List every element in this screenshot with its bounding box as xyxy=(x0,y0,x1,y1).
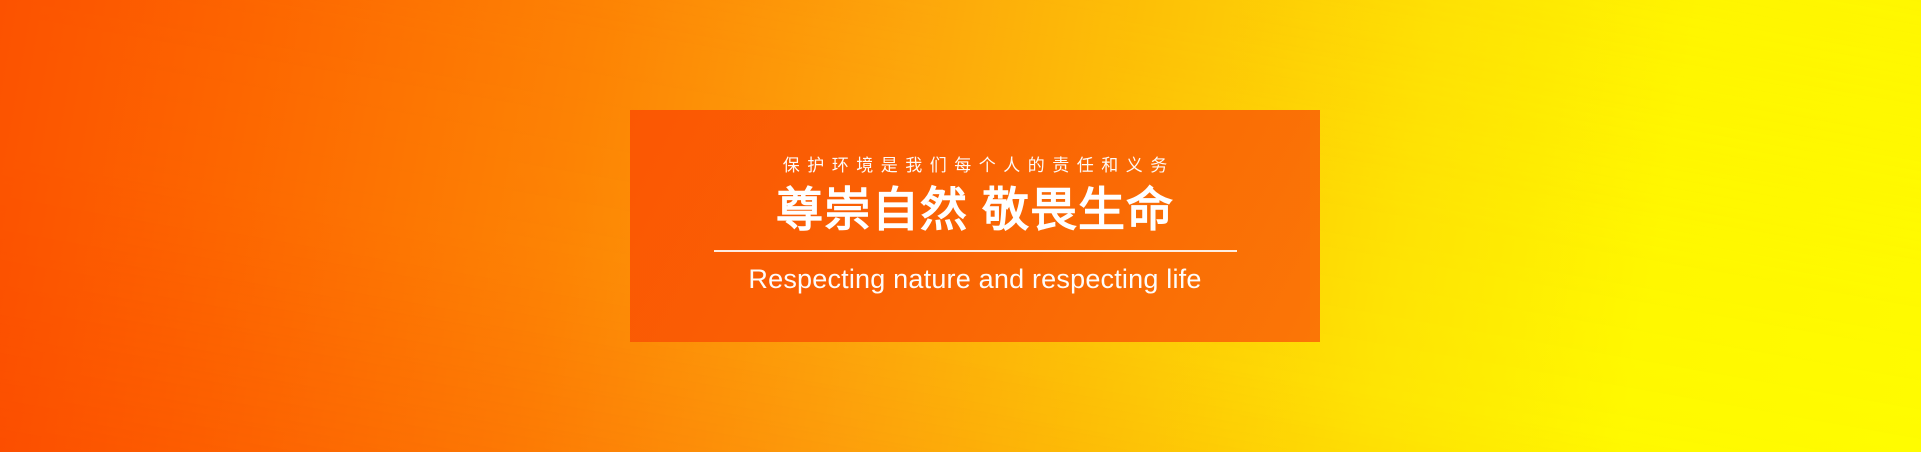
banner-root: 保护环境是我们每个人的责任和义务 尊崇自然 敬畏生命 Respecting na… xyxy=(0,0,1921,452)
banner-divider xyxy=(714,250,1237,252)
banner-subtitle-english: Respecting nature and respecting life xyxy=(748,264,1201,295)
banner-eyebrow-text: 保护环境是我们每个人的责任和义务 xyxy=(775,157,1175,176)
banner-card: 保护环境是我们每个人的责任和义务 尊崇自然 敬畏生命 Respecting na… xyxy=(630,110,1320,342)
banner-text-group: 保护环境是我们每个人的责任和义务 尊崇自然 敬畏生命 Respecting na… xyxy=(630,157,1320,295)
banner-headline: 尊崇自然 敬畏生命 xyxy=(776,184,1174,237)
